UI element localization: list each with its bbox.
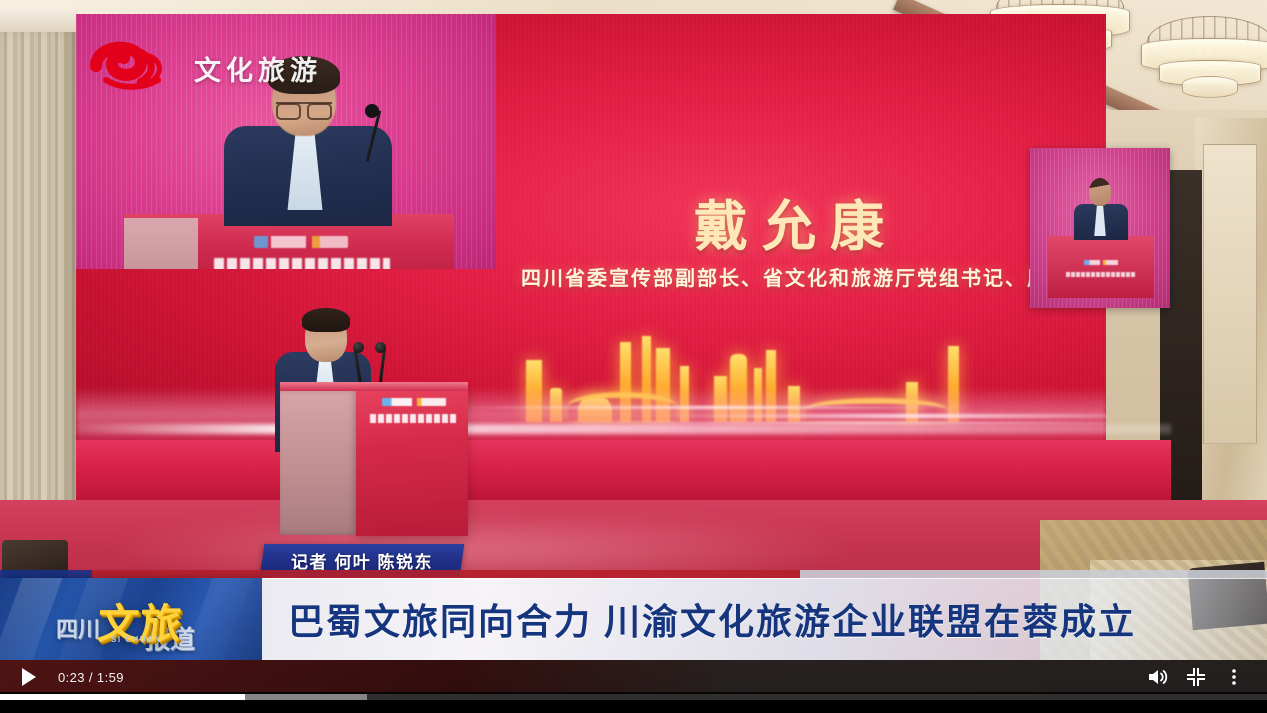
led-speaker-name: 戴允康 (506, 182, 1086, 261)
play-button[interactable] (14, 662, 44, 692)
microphone-head (375, 342, 386, 353)
podium-sponsor-logos (382, 398, 446, 406)
headline-bar: 巴蜀文旅同向合力 川渝文化旅游企业联盟在蓉成立 (262, 578, 1267, 660)
podium (356, 386, 468, 536)
watermark-channel-label: 文化旅游 (194, 49, 322, 88)
program-logo-region: 四川 (56, 612, 100, 644)
headline-text: 巴蜀文旅同向合力 川渝文化旅游企业联盟在蓉成立 (288, 593, 1136, 645)
feed-podium-banner-text (214, 258, 390, 269)
microphone-head (353, 342, 364, 353)
time-display: 0:23 / 1:59 (58, 670, 124, 685)
video-player: 文化旅游 (0, 0, 1267, 713)
play-icon (22, 668, 36, 686)
led-speaker-title: 四川省委宣传部副部长、省文化和旅游厅党组书记、厅长 (476, 262, 1106, 291)
feed-podium-side (124, 218, 198, 269)
side-feed-logos (1084, 260, 1118, 265)
podium-banner-text (370, 414, 458, 423)
controls-base (0, 700, 1267, 713)
stage-edge-light (76, 424, 1171, 434)
podium-desktop (280, 382, 468, 391)
side-feed-banner-text (1066, 272, 1136, 277)
chandelier (1135, 16, 1267, 112)
feed-podium-logos (254, 236, 348, 248)
sichuan-tv-swirl-logo (88, 40, 180, 96)
podium-side-panel (280, 390, 360, 535)
volume-icon (1147, 667, 1169, 687)
lower-third-top-strip (0, 570, 1267, 578)
curtain-rail (0, 10, 78, 32)
main-led-screen: 文化旅游 (76, 14, 1106, 459)
side-feed-podium (1048, 236, 1154, 298)
volume-button[interactable] (1139, 660, 1177, 694)
speaker-hair (302, 308, 350, 332)
exit-fullscreen-icon (1186, 667, 1206, 687)
feed-microphone-head (365, 104, 379, 118)
controls-row: 0:23 / 1:59 (0, 660, 1267, 694)
more-options-icon (1231, 667, 1237, 687)
video-surface[interactable]: 文化旅游 (0, 0, 1267, 660)
exit-fullscreen-button[interactable] (1177, 660, 1215, 694)
channel-watermark: 文化旅游 (88, 40, 322, 96)
side-feed-head (1089, 178, 1111, 206)
feed-speaker-glasses (276, 102, 332, 115)
program-logo: 四川 报道 文旅 SI CHUAN (0, 578, 262, 660)
lower-third: 四川 报道 文旅 SI CHUAN 巴蜀文旅同向合力 川渝文化旅游企业联盟在蓉成… (0, 578, 1267, 660)
player-controls: 0:23 / 1:59 (0, 660, 1267, 713)
curtain (0, 24, 76, 569)
side-led-screen (1030, 148, 1170, 308)
program-logo-pinyin: SI CHUAN (111, 635, 162, 644)
more-options-button[interactable] (1215, 660, 1253, 694)
